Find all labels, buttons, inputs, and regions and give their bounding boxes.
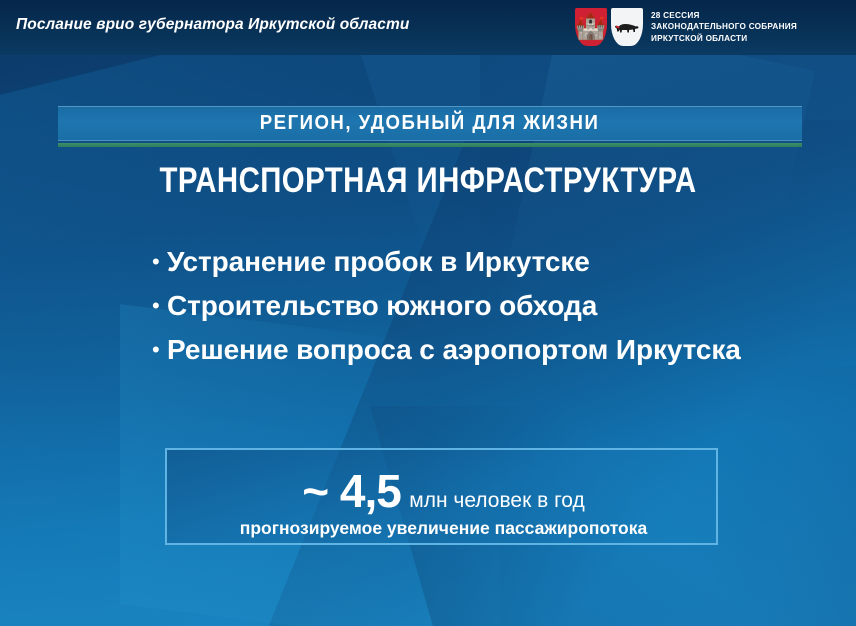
emblem-caption-line-3: ИРКУТСКОЙ ОБЛАСТИ [651,33,797,44]
double-headed-eagle-glyph: 🏰 [575,15,606,40]
bullet-list: • Устранение пробок в Иркутске • Строите… [152,243,772,375]
emblem-caption: 28 СЕССИЯ ЗАКОНОДАТЕЛЬНОГО СОБРАНИЯ ИРКУ… [651,10,797,44]
emblem-caption-line-2: ЗАКОНОДАТЕЛЬНОГО СОБРАНИЯ [651,21,797,32]
slide-header-bar: Послание врио губернатора Иркутской обла… [0,0,856,55]
emblem-group: 🏰 28 СЕССИЯ ЗАКОНОДАТЕЛЬНОГО СОБРАНИЯ ИР… [575,8,797,46]
slide-subtitle: ТРАНСПОРТНАЯ ИНФРАСТРУКТУРА [68,161,787,201]
highlight-value: ~ 4,5 [302,465,401,517]
highlight-headline: ~ 4,5 млн человек в год [167,464,720,518]
list-item: • Решение вопроса с аэропортом Иркутска [152,331,772,369]
highlight-unit: млн человек в год [409,489,585,512]
section-banner: РЕГИОН, УДОБНЫЙ ДЛЯ ЖИЗНИ [58,106,802,141]
highlight-caption: прогнозируемое увеличение пассажиропоток… [167,518,720,539]
list-item: • Строительство южного обхода [152,287,772,325]
list-item-label: Устранение пробок в Иркутске [167,243,590,281]
babr-with-sable-glyph [615,19,639,34]
russia-coat-of-arms-icon: 🏰 [575,8,607,46]
highlight-callout-box: ~ 4,5 млн человек в год прогнозируемое у… [165,448,718,545]
emblem-caption-line-1: 28 СЕССИЯ [651,10,797,21]
list-item: • Устранение пробок в Иркутске [152,243,772,281]
list-item-label: Строительство южного обхода [167,287,597,325]
header-title: Послание врио губернатора Иркутской обла… [16,16,409,34]
presentation-slide: Послание врио губернатора Иркутской обла… [0,0,856,626]
bullet-dot-icon: • [152,243,167,281]
irkutsk-oblast-coat-of-arms-icon [611,8,643,46]
section-banner-title: РЕГИОН, УДОБНЫЙ ДЛЯ ЖИЗНИ [260,112,600,135]
section-banner-underline [58,143,802,147]
bullet-dot-icon: • [152,331,167,369]
list-item-label: Решение вопроса с аэропортом Иркутска [167,331,741,369]
bullet-dot-icon: • [152,287,167,325]
